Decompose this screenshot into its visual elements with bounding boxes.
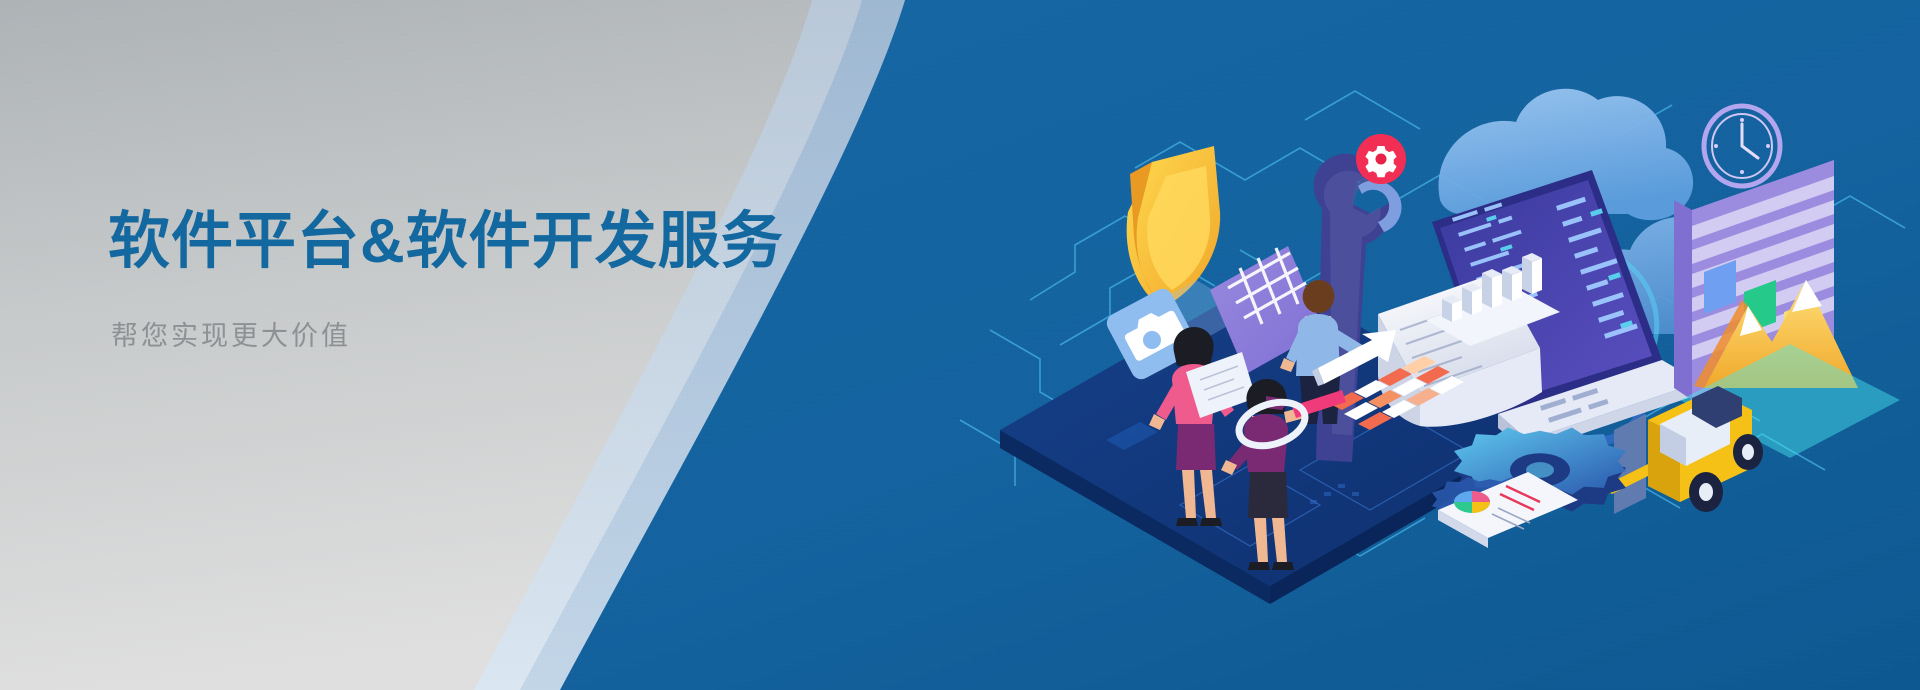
page-title: 软件平台&软件开发服务	[108, 206, 788, 277]
page-subtitle: 帮您实现更大价值	[111, 319, 788, 354]
hero-banner: 软件平台&软件开发服务 帮您实现更大价值	[0, 0, 1920, 690]
headline-block: 软件平台&软件开发服务 帮您实现更大价值	[108, 206, 788, 354]
